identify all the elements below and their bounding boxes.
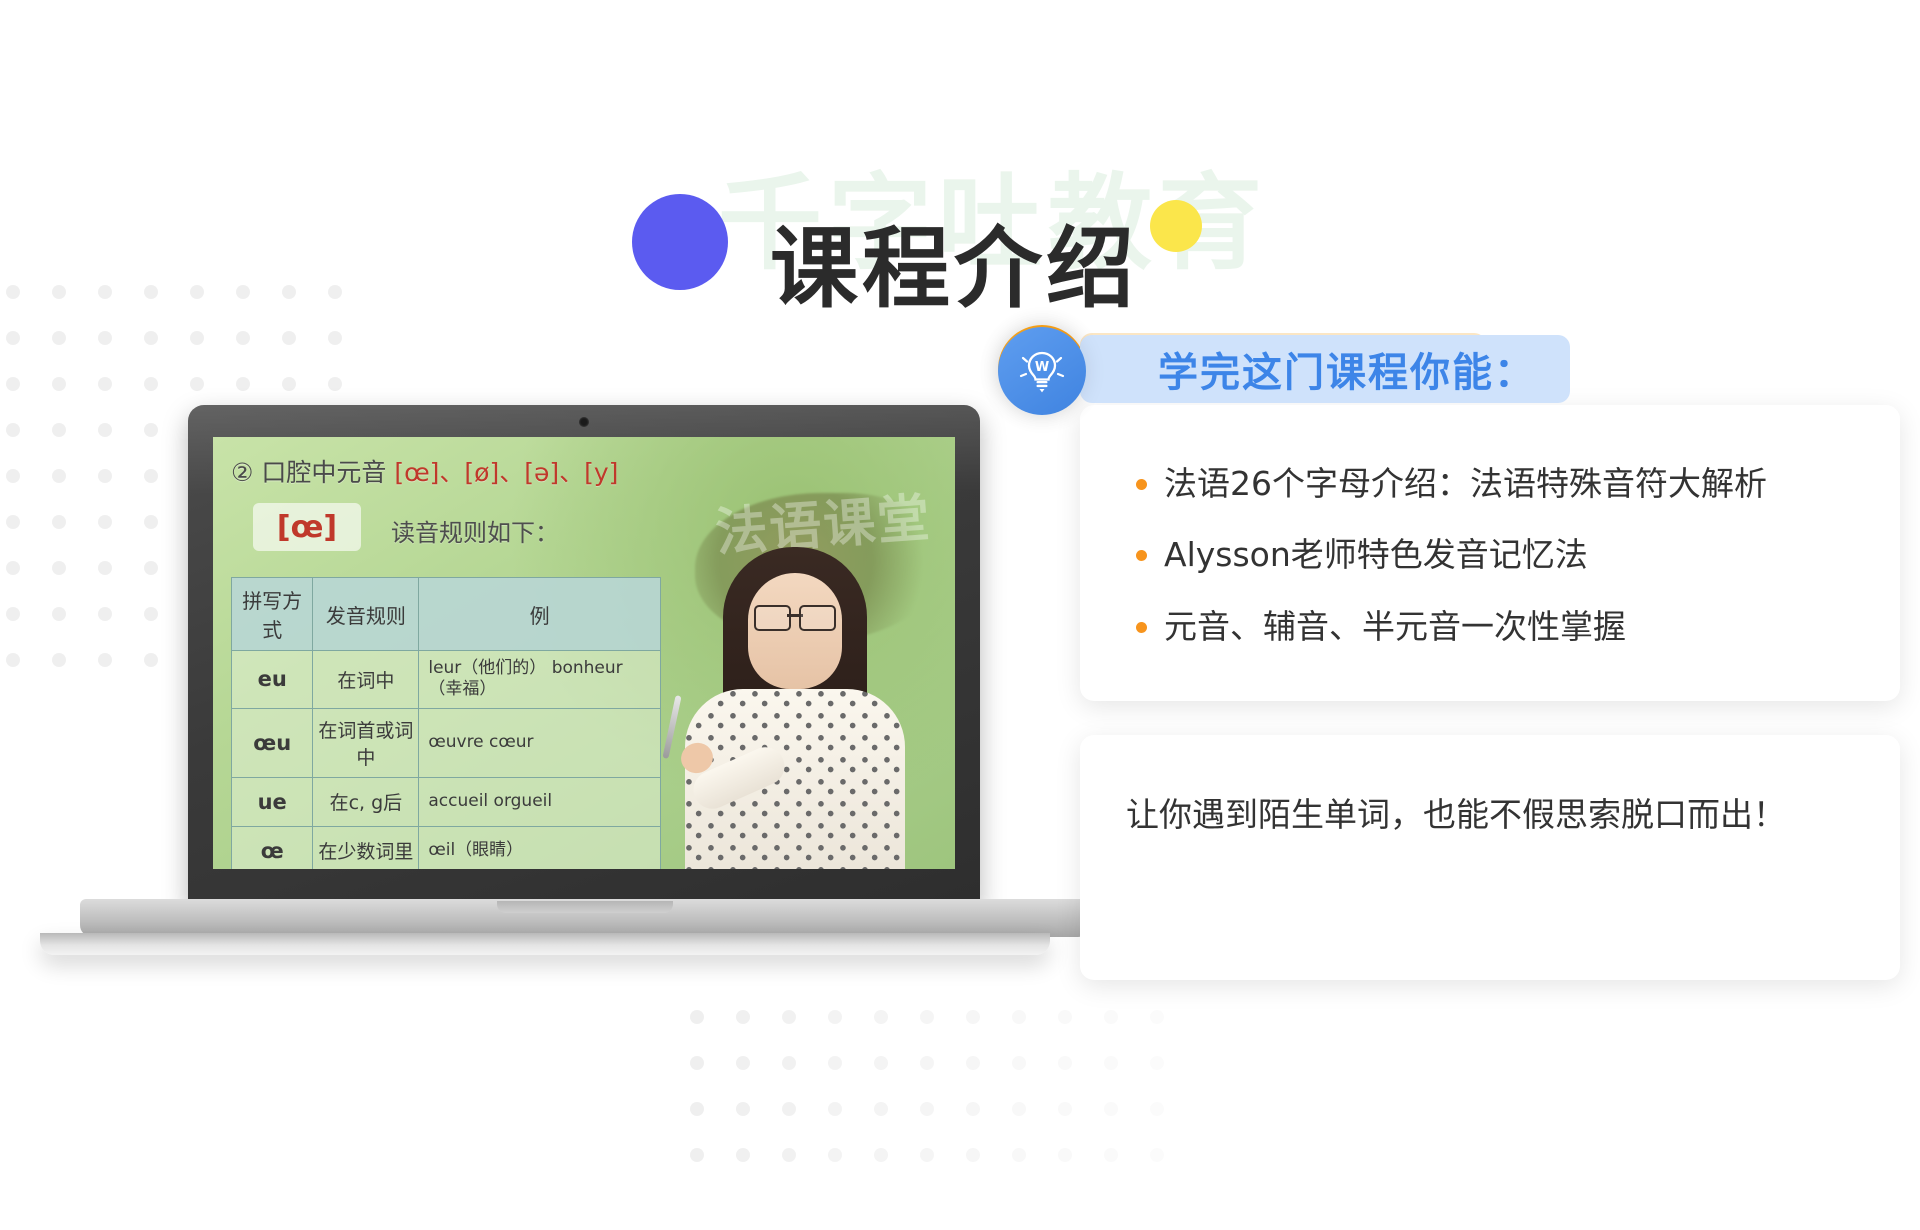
video-slide-heading: ② 口腔中元音 [œ]、[ø]、[ə]、[y] xyxy=(231,453,618,489)
card-course-outcome: 让你遇到陌生单词，也能不假思索脱口而出！ xyxy=(1080,735,1900,980)
card-course-includes: 法语26个字母介绍：法语特殊音符大解析 Alysson老师特色发音记忆法 元音、… xyxy=(1080,405,1900,701)
laptop-base xyxy=(80,899,1090,937)
banner-title-outcome: 学完这门课程你能： xyxy=(1158,340,1536,398)
laptop-screen: 法语课堂 ② 口腔中元音 [œ]、[ø]、[ə]、[y] [œ] 读音规则如下：… xyxy=(213,437,955,869)
yellow-small-circle-decor xyxy=(1150,200,1202,252)
table-cell-rule: 在少数词里 xyxy=(313,826,419,869)
table-cell-spelling: œu xyxy=(232,708,313,777)
course-includes-list: 法语26个字母介绍：法语特殊音符大解析 Alysson老师特色发音记忆法 元音、… xyxy=(1080,405,1900,701)
pointer-pen-icon xyxy=(662,695,681,759)
laptop-mockup: 法语课堂 ② 口腔中元音 [œ]、[ø]、[ə]、[y] [œ] 读音规则如下：… xyxy=(40,405,1050,985)
slide-canvas: 千字吐教育 课程介绍 法语课堂 ② 口腔中元音 [œ]、[ø]、[ə]、[y] … xyxy=(0,0,1920,1230)
list-item: 法语26个字母介绍：法语特殊音符大解析 xyxy=(1130,463,1860,504)
video-frame: 法语课堂 ② 口腔中元音 [œ]、[ø]、[ə]、[y] [œ] 读音规则如下：… xyxy=(213,437,955,869)
table-row: eu 在词中 leur（他们的） bonheur（幸福） xyxy=(232,651,661,709)
instructor-figure xyxy=(675,539,915,869)
page-title: 课程介绍 xyxy=(770,198,1138,325)
table-cell-example: œuvre cœur xyxy=(419,708,661,777)
laptop-base-notch xyxy=(497,901,673,913)
table-cell-example: accueil orgueil xyxy=(419,777,661,826)
video-slide-ipa-list: [œ]、[ø]、[ə]、[y] xyxy=(394,458,618,487)
table-header-cell: 例 xyxy=(419,578,661,651)
video-rule-note: 读音规则如下： xyxy=(391,513,559,548)
list-item: 元音、辅音、半元音一次性掌握 xyxy=(1130,606,1860,647)
table-cell-rule: 在词中 xyxy=(313,651,419,709)
table-header-cell: 拼写方式 xyxy=(232,578,313,651)
blue-circle-decor xyxy=(632,194,728,290)
video-ipa-chip: [œ] xyxy=(253,503,361,551)
table-cell-spelling: ue xyxy=(232,777,313,826)
table-row: ue 在c, g后 accueil orgueil xyxy=(232,777,661,826)
table-cell-example: œil（眼睛） xyxy=(419,826,661,869)
page-header: 千字吐教育 课程介绍 xyxy=(0,60,1920,250)
webcam-icon xyxy=(579,417,589,427)
table-cell-rule: 在词首或词中 xyxy=(313,708,419,777)
table-cell-rule: 在c, g后 xyxy=(313,777,419,826)
table-cell-example: leur（他们的） bonheur（幸福） xyxy=(419,651,661,709)
lightbulb-icon: W xyxy=(998,327,1086,415)
laptop-foot xyxy=(40,933,1050,955)
video-slide-heading-text: ② 口腔中元音 xyxy=(231,458,386,487)
table-cell-spelling: œ xyxy=(232,826,313,869)
instructor-face xyxy=(748,573,842,689)
svg-text:W: W xyxy=(1035,360,1049,375)
banner-course-outcome: 学完这门课程你能： xyxy=(1080,335,1570,403)
table-header-cell: 发音规则 xyxy=(313,578,419,651)
list-item: Alysson老师特色发音记忆法 xyxy=(1130,534,1860,575)
pronunciation-table: 拼写方式 发音规则 例 eu 在词中 leur（他们的） bonheur（幸福） xyxy=(231,577,661,869)
table-header-row: 拼写方式 发音规则 例 xyxy=(232,578,661,651)
table-row: œu 在词首或词中 œuvre cœur xyxy=(232,708,661,777)
course-outcome-text: 让你遇到陌生单词，也能不假思索脱口而出！ xyxy=(1080,735,1900,899)
glasses-icon xyxy=(754,605,836,627)
table-cell-spelling: eu xyxy=(232,651,313,709)
table-row: œ 在少数词里 œil（眼睛） xyxy=(232,826,661,869)
laptop-lid: 法语课堂 ② 口腔中元音 [œ]、[ø]、[ə]、[y] [œ] 读音规则如下：… xyxy=(188,405,980,905)
